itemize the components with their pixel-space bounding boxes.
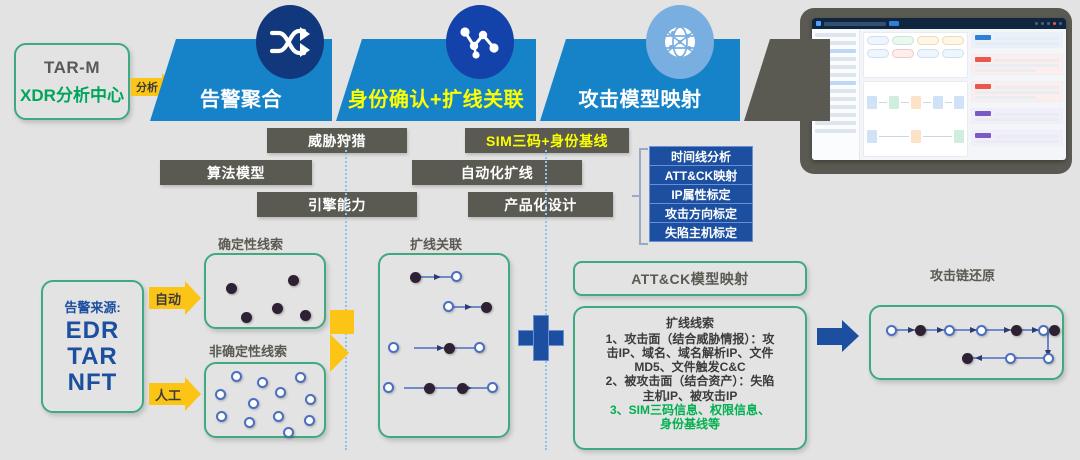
clue-dot xyxy=(241,312,252,323)
graph-node xyxy=(424,383,435,394)
plus-icon xyxy=(518,315,564,361)
dashboard-nav-item xyxy=(815,121,856,125)
graph-node xyxy=(481,302,492,313)
capability-label-algorithm-model: 算法模型 xyxy=(160,160,312,185)
auto-flow-arrow-label: 自动 xyxy=(149,287,185,309)
network-nodes-icon xyxy=(446,5,514,79)
banner-segment-tail xyxy=(744,39,830,121)
dashboard-topology xyxy=(867,85,964,119)
capability-label-threat-hunting: 威胁狩猎 xyxy=(267,128,407,153)
capability-label-engine-ability: 引擎能力 xyxy=(257,192,417,217)
dashboard-nav-item xyxy=(815,129,856,133)
analysis-output-item-attck: ATT&CK映射 xyxy=(649,165,753,185)
result-arrow xyxy=(817,320,859,352)
graph-node-open xyxy=(443,301,454,312)
dashboard-chip-row xyxy=(867,49,964,58)
dashboard-node xyxy=(911,96,921,109)
analysis-output-item-direction: 攻击方向标定 xyxy=(649,203,753,223)
dashboard-body xyxy=(812,29,1066,160)
alert-source-nft: NFT xyxy=(68,370,118,396)
blue-list-bracket-tick xyxy=(632,195,640,197)
clue-dot-open xyxy=(257,377,268,388)
aggregate-arrow-tail xyxy=(330,310,354,334)
chain-node xyxy=(1011,325,1022,336)
dashboard-chip xyxy=(867,49,889,58)
attck-mapping-title: ATT&CK模型映射 xyxy=(631,269,749,289)
dashboard-chip xyxy=(892,36,914,45)
graph-node-open xyxy=(487,382,498,393)
expansion-clue-line: 击IP、域名、域名解析IP、文件 xyxy=(582,346,798,360)
shuffle-icon xyxy=(256,5,324,79)
expansion-clue-line: 主机IP、被攻击IP xyxy=(582,389,798,403)
manual-flow-arrow-label: 人工 xyxy=(149,383,185,405)
alert-source-tar: TAR xyxy=(67,344,118,370)
dashboard-chip xyxy=(942,49,964,58)
graph-node-open xyxy=(383,382,394,393)
dashboard-node xyxy=(889,96,899,109)
chain-node-open xyxy=(886,325,897,336)
dashboard-node xyxy=(911,130,921,143)
clue-dot-open xyxy=(215,389,226,400)
attack-chain-box xyxy=(869,305,1064,380)
process-banner: 告警聚合 身份确认+扩线关联 攻击模型映射 xyxy=(150,39,830,121)
capability-label-sim-identity-baseline: SIM三码+身份基线 xyxy=(465,128,629,153)
dashboard-topology xyxy=(867,119,964,153)
dashboard-topology-card xyxy=(863,81,968,157)
banner-segment-label: 身份确认+扩线关联 xyxy=(348,83,524,121)
globe-network-icon xyxy=(646,5,714,79)
banner-segment-label: 攻击模型映射 xyxy=(579,83,702,121)
result-arrow-tail xyxy=(817,328,842,345)
dashboard-topbar xyxy=(812,18,1066,29)
chain-node xyxy=(962,353,973,364)
capability-label-productized-design: 产品化设计 xyxy=(468,192,613,217)
dashboard-topbar-icon xyxy=(1047,22,1050,25)
graph-node xyxy=(457,383,468,394)
dashboard-node xyxy=(954,130,964,143)
chain-node-open xyxy=(976,325,987,336)
dashboard-chip xyxy=(942,36,964,45)
clue-dot-open xyxy=(283,427,294,438)
expansion-clue-line: MD5、文件触发C&C xyxy=(582,360,798,374)
result-arrow-head xyxy=(842,320,859,352)
chain-node-open xyxy=(1043,353,1054,364)
graph-node-open xyxy=(474,342,485,353)
expansion-clue-line: 2、被攻击面（结合资产）：失陷 xyxy=(582,374,798,388)
dashboard-chip-row xyxy=(867,36,964,45)
dashboard-alert-item xyxy=(971,130,1063,146)
graph-node xyxy=(410,272,421,283)
dashboard-chip xyxy=(892,49,914,58)
expansion-clue-line-highlight: 3、SIM三码信息、权限信息、 xyxy=(582,403,798,417)
clue-dot xyxy=(272,303,283,314)
dashboard-node xyxy=(954,96,964,109)
clue-dot-open xyxy=(275,387,286,398)
attack-chain-title: 攻击链还原 xyxy=(930,265,995,284)
clue-dot-open xyxy=(305,394,316,405)
deterministic-clue-title: 确定性线索 xyxy=(218,234,283,253)
aggregate-arrow-head xyxy=(330,334,349,372)
clue-dot xyxy=(226,283,237,294)
alert-source-box: 告警来源: EDR TAR NFT xyxy=(41,280,144,413)
auto-flow-arrow-head xyxy=(185,281,201,315)
clue-dot-open xyxy=(231,371,242,382)
banner-segment-label: 告警聚合 xyxy=(200,83,282,121)
analysis-output-item-timeline: 时间线分析 xyxy=(649,146,753,166)
analysis-output-list: 时间线分析 ATT&CK映射 IP属性标定 攻击方向标定 失陷主机标定 xyxy=(649,146,753,242)
clue-dot-open xyxy=(273,411,284,422)
dashboard-node xyxy=(867,96,877,109)
graph-node xyxy=(444,343,455,354)
nondeterministic-clue-title: 非确定性线索 xyxy=(209,341,287,360)
clue-dot xyxy=(300,310,311,321)
dashboard-alert-item xyxy=(971,54,1063,75)
dashboard-alert-icon xyxy=(1053,22,1056,25)
chain-node-open xyxy=(1038,325,1049,336)
dashboard-screenshot xyxy=(812,18,1066,160)
analysis-output-item-ip-attr: IP属性标定 xyxy=(649,184,753,204)
tar-m-title: TAR-M xyxy=(44,58,100,78)
clue-dot-open xyxy=(304,415,315,426)
dashboard-node xyxy=(867,130,877,143)
graph-node-open xyxy=(388,342,399,353)
expansion-clue-text-box: 扩线线索 1、攻击面（结合威胁情报）：攻 击IP、域名、域名解析IP、文件 MD… xyxy=(573,306,807,450)
chain-node xyxy=(1049,325,1060,336)
blue-list-bracket xyxy=(639,148,648,245)
clue-dot-open xyxy=(216,411,227,422)
manual-flow-arrow: 人工 xyxy=(149,377,201,411)
analysis-output-item-compromise: 失陷主机标定 xyxy=(649,222,753,242)
dashboard-alert-item xyxy=(971,32,1063,48)
clue-dot xyxy=(288,275,299,286)
alert-source-edr: EDR xyxy=(66,318,120,344)
xdr-center-subtitle: XDR分析中心 xyxy=(20,81,124,106)
capability-label-automated-expansion: 自动化扩线 xyxy=(412,160,582,185)
dashboard-chip xyxy=(917,49,939,58)
section-divider xyxy=(545,150,547,450)
clue-dot-open xyxy=(244,417,255,428)
aggregate-arrow xyxy=(330,310,354,372)
clue-dot-open xyxy=(248,398,259,409)
dashboard-badge xyxy=(889,21,899,26)
dashboard-alert-item xyxy=(971,108,1063,124)
dashboard-nav-item xyxy=(815,33,856,37)
dashboard-logo-icon xyxy=(816,21,821,26)
dashboard-alert-list xyxy=(971,32,1063,157)
manual-flow-arrow-head xyxy=(185,377,201,411)
expansion-clue-line: 1、攻击面（结合威胁情报）：攻 xyxy=(582,332,798,346)
graph-node-open xyxy=(451,271,462,282)
chain-node-open xyxy=(944,325,955,336)
dashboard-node xyxy=(933,96,943,109)
dashboard-topbar-icon xyxy=(1035,22,1038,25)
dashboard-flow-card xyxy=(863,32,968,78)
diagram-canvas: TAR-M XDR分析中心 分析 告警聚合 身份确认+扩线关联 攻击模型映射 xyxy=(0,0,1080,460)
expansion-graph-title: 扩线关联 xyxy=(410,234,462,253)
auto-flow-arrow: 自动 xyxy=(149,281,201,315)
clue-dot-open xyxy=(295,372,306,383)
dashboard-chip xyxy=(917,36,939,45)
dashboard-title-placeholder xyxy=(824,22,886,26)
dashboard-topbar-icon xyxy=(1059,22,1062,25)
dashboard-main xyxy=(860,29,1066,160)
alert-source-title: 告警来源: xyxy=(64,297,120,316)
section-divider xyxy=(345,150,347,450)
tar-m-xdr-center-box: TAR-M XDR分析中心 xyxy=(14,43,130,120)
expansion-clue-line-highlight: 身份基线等 xyxy=(582,417,798,431)
chain-node-open xyxy=(1005,353,1016,364)
dashboard-chip xyxy=(867,36,889,45)
dashboard-left-column xyxy=(863,32,968,157)
dashboard-topbar-icon xyxy=(1041,22,1044,25)
dashboard-alert-item xyxy=(971,81,1063,102)
chain-node xyxy=(915,325,926,336)
expansion-clue-heading: 扩线线索 xyxy=(582,314,798,331)
attck-mapping-box: ATT&CK模型映射 xyxy=(573,261,807,296)
